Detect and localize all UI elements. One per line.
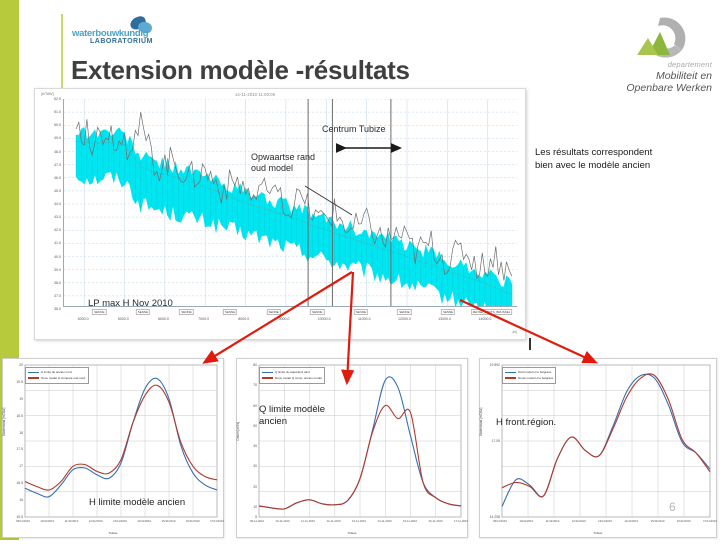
page-title: Extension modèle -résultats — [71, 55, 410, 86]
main-chart-plot-area — [63, 99, 517, 307]
sub-x-tick-label: 11/11/2010 — [546, 519, 560, 523]
sub-chart-h-limite: Waterstand [mTAW] 2019.51918.51817.51716… — [2, 358, 224, 538]
y-tick-label: 40.0 — [54, 255, 61, 259]
y-tick-label: 41.0 — [54, 241, 61, 245]
y-tick-label: 51.0 — [54, 110, 61, 114]
sub-x-tick-label: 16/11/2010 — [677, 519, 691, 523]
legend-label: Q limite du aquarterd rand — [275, 370, 310, 375]
sub-chart-q-limite-y-labels: 80706050403020105 — [239, 365, 257, 517]
y-tick-label: 43.0 — [54, 215, 61, 219]
main-chart-y-axis-labels: 52.051.050.049.048.047.046.045.044.043.0… — [39, 99, 61, 307]
sub-chart-h-front-legend: Oud model H te belgrave Nouw model H te … — [502, 367, 556, 384]
sub-y-tick-label: 80 — [253, 363, 257, 367]
sub-chart-q-limite-label-line2: ancien — [259, 416, 325, 428]
sub-x-tick-label: 12-11-2010 — [326, 519, 340, 523]
slide-canvas: waterbouwkundig LABORATORIUM Extension m… — [0, 0, 720, 540]
x-tick-label: 7000.0 — [198, 317, 209, 321]
mow-logo: departement Mobiliteit en Openbare Werke… — [596, 14, 712, 92]
y-tick-label: 37.0 — [54, 294, 61, 298]
sub-chart-h-limite-label: H limite modèle ancien — [89, 497, 185, 509]
sub-y-tick-label: 30 — [253, 464, 257, 468]
mow-emblem-icon — [596, 14, 712, 62]
sub-x-tick-label: 16-11-2010 — [428, 519, 442, 523]
x-tick-label: 10000.0 — [318, 317, 331, 321]
sub-y-tick-label: 16 — [19, 498, 23, 502]
station-label: SENNE — [179, 309, 193, 315]
sub-x-tick-label: 10/11/2010 — [519, 519, 533, 523]
main-chart-x-unit: [m] — [513, 330, 517, 334]
x-tick-label: 14000.0 — [478, 317, 491, 321]
sub-y-tick-label: 17 — [19, 464, 23, 468]
sub-chart-h-front-region: Waterstand [mTAW] 19.89217.0514.208 Oud … — [479, 358, 717, 538]
x-tick-label: 4000.0 — [78, 317, 89, 321]
legend-label: H limite du ancien mod. — [41, 370, 72, 375]
y-tick-label: 38.0 — [54, 281, 61, 285]
x-tick-label: 5000.0 — [118, 317, 129, 321]
sub-chart-q-limite-label: Q limite modèle ancien — [259, 404, 325, 427]
annotation-lp-max: LP max H Nov 2010 — [88, 298, 173, 309]
sub-x-tick-label: 12/11/2010 — [89, 519, 103, 523]
sub-chart-h-limite-y-labels: 2019.51918.51817.51716.51615.5 — [5, 365, 23, 517]
sub-x-tick-label: 13-11-2010 — [352, 519, 366, 523]
sub-x-tick-label: 11-11-2010 — [301, 519, 315, 523]
main-chart-timestamp: 14-11-2010 11:00:00 — [235, 92, 275, 97]
y-tick-label: 52.0 — [54, 97, 61, 101]
station-label: SENNE — [92, 309, 106, 315]
y-tick-label: 49.0 — [54, 136, 61, 140]
legend-swatch-blue — [505, 372, 516, 373]
results-note-line1: Les résultats correspondent — [535, 147, 715, 160]
sub-y-tick-label: 19 — [19, 397, 23, 401]
x-tick-label: 8000.0 — [238, 317, 249, 321]
sub-y-tick-label: 17.05 — [492, 439, 501, 443]
sub-chart-h-front-y-labels: 19.89217.0514.208 — [482, 365, 500, 517]
legend-row: Oud model H te belgrave — [505, 370, 553, 375]
sub-x-tick-label: 09/11/2010 — [16, 519, 30, 523]
sub-y-tick-label: 20 — [253, 485, 257, 489]
legend-row: Q limite du aquarterd rand — [262, 370, 322, 375]
y-tick-label: 45.0 — [54, 189, 61, 193]
annotation-opwaartse-rand: Opwaartse rand oud model — [251, 152, 315, 174]
station-label: SENNE — [266, 309, 280, 315]
x-tick-label: 6000.0 — [158, 317, 169, 321]
sub-y-tick-label: 20 — [19, 363, 23, 367]
y-tick-label: 47.0 — [54, 163, 61, 167]
legend-row: Nouw model H te belgrave — [505, 376, 553, 381]
sub-x-tick-label: 09/11/2010 — [493, 519, 507, 523]
chart-edge-tick-mark — [529, 338, 531, 350]
sub-chart-q-limite-x-title: Tidsas — [237, 531, 467, 535]
legend-row: Nouv model H comparé oud mod. — [28, 376, 86, 381]
page-number: 6 — [669, 500, 676, 514]
sub-x-tick-label: 17/11/2010 — [703, 519, 717, 523]
laboratorium-subtext: LABORATORIUM — [90, 38, 153, 45]
y-tick-label: 42.0 — [54, 228, 61, 232]
title-divider-rule — [61, 14, 63, 88]
sub-x-tick-label: 16/11/2010 — [186, 519, 200, 523]
sub-y-tick-label: 19.5 — [16, 380, 23, 384]
legend-label: Nouv model Q comp. ancien model — [275, 376, 322, 381]
sub-y-tick-label: 18 — [19, 431, 23, 435]
mow-line2: Openbare Werken — [596, 82, 712, 94]
mow-line1: Mobiliteit en — [596, 70, 712, 82]
y-tick-label: 39.0 — [54, 268, 61, 272]
station-label: SENNE — [136, 309, 150, 315]
sub-y-tick-label: 18.5 — [16, 414, 23, 418]
sub-chart-h-front-label: H front.région. — [496, 417, 556, 429]
mow-text-block: departement Mobiliteit en Openbare Werke… — [596, 60, 712, 94]
sub-y-tick-label: 40 — [253, 444, 257, 448]
sub-x-tick-label: 13/11/2010 — [113, 519, 127, 523]
sub-y-tick-label: 17.5 — [16, 447, 23, 451]
x-tick-label: 13000.0 — [438, 317, 451, 321]
x-tick-label: 11000.0 — [358, 317, 371, 321]
sub-x-tick-label: 17-11-2010 — [454, 519, 468, 523]
sub-x-tick-label: 14-11-2010 — [377, 519, 391, 523]
sub-x-tick-label: 15/11/2010 — [162, 519, 176, 523]
annotation-opwaartse-line2: oud model — [251, 163, 315, 174]
sub-x-tick-label: 09-11-2010 — [250, 519, 264, 523]
y-tick-label: 48.0 — [54, 150, 61, 154]
legend-label: Nouw model H te belgrave — [518, 376, 553, 381]
mow-departement-label: departement — [596, 60, 712, 69]
sub-x-tick-label: 13/11/2010 — [598, 519, 612, 523]
legend-row: H limite du ancien mod. — [28, 370, 86, 375]
legend-swatch-blue — [28, 372, 39, 373]
y-tick-label: 44.0 — [54, 202, 61, 206]
sub-y-tick-label: 70 — [253, 383, 257, 387]
sub-chart-h-limite-svg — [3, 359, 225, 539]
station-label: SENNE — [397, 309, 411, 315]
y-tick-label: 50.0 — [54, 123, 61, 127]
station-label: SENNE — [223, 309, 237, 315]
legend-swatch-red — [28, 377, 39, 378]
sub-chart-q-limite-svg — [237, 359, 469, 539]
sub-y-tick-label: 60 — [253, 404, 257, 408]
y-tick-label: 46.0 — [54, 176, 61, 180]
legend-swatch-red — [262, 377, 273, 378]
sub-chart-q-limite-label-line1: Q limite modèle — [259, 404, 325, 416]
station-label: SENNE — [354, 309, 368, 315]
sub-x-tick-label: 11/11/2010 — [65, 519, 79, 523]
main-chart-y-unit: [mTAW] — [41, 92, 54, 96]
main-chart-svg — [64, 99, 517, 307]
sub-y-tick-label: 50 — [253, 424, 257, 428]
results-note-line2: bien avec le modèle ancien — [535, 160, 715, 173]
sub-chart-h-front-x-title: Tidsas — [480, 531, 716, 535]
main-chart-station-labels: SENNESENNESENNESENNESENNESENNESENNESENNE… — [63, 309, 517, 317]
main-chart-x-axis-labels: 4000.05000.06000.07000.08000.09000.01000… — [63, 317, 517, 327]
sub-x-tick-label: 10-11-2010 — [275, 519, 289, 523]
station-label: ZENNE_OPVTS_BRUSSEL — [471, 309, 513, 315]
legend-label: Nouv model H comparé oud mod. — [41, 376, 86, 381]
station-label: SENNE — [310, 309, 324, 315]
sub-x-tick-label: 15/11/2010 — [651, 519, 665, 523]
sub-y-tick-label: 16.5 — [16, 481, 23, 485]
legend-swatch-blue — [262, 372, 273, 373]
legend-swatch-red — [505, 377, 516, 378]
sub-chart-h-front-x-labels: 09/11/201010/11/201011/11/201012/11/2010… — [500, 519, 710, 527]
sub-x-tick-label: 15-11-2010 — [403, 519, 417, 523]
legend-row: Nouv model Q comp. ancien model — [262, 376, 322, 381]
sub-x-tick-label: 14/11/2010 — [624, 519, 638, 523]
annotation-centrum-text: Centrum Tubize — [322, 124, 386, 134]
x-tick-label: 9000.0 — [278, 317, 289, 321]
sub-x-tick-label: 12/11/2010 — [572, 519, 586, 523]
waterbouwkundig-logo: waterbouwkundig LABORATORIUM — [72, 16, 168, 50]
x-tick-label: 12000.0 — [398, 317, 411, 321]
sub-x-tick-label: 17/11/2010 — [210, 519, 224, 523]
sub-chart-h-limite-x-labels: 09/11/201010/11/201011/11/201012/11/2010… — [23, 519, 217, 527]
sub-chart-q-limite-legend: Q limite du aquarterd rand Nouv model Q … — [259, 367, 325, 384]
sub-y-tick-label: 10 — [253, 505, 257, 509]
sub-chart-h-limite-x-title: Tidsas — [3, 531, 223, 535]
sub-y-tick-label: 19.892 — [490, 363, 500, 367]
station-label: SENNE — [441, 309, 455, 315]
sub-chart-h-front-svg — [480, 359, 718, 539]
annotation-centrum-tubize: Centrum Tubize — [322, 124, 386, 135]
legend-label: Oud model H te belgrave — [518, 370, 551, 375]
sub-x-tick-label: 10/11/2010 — [40, 519, 54, 523]
sub-chart-h-limite-legend: H limite du ancien mod. Nouv model H com… — [25, 367, 89, 384]
y-tick-label: 36.0 — [54, 307, 61, 311]
results-note: Les résultats correspondent bien avec le… — [535, 147, 715, 172]
sub-chart-q-limite-x-labels: 09-11-201010-11-201011-11-201012-11-2010… — [257, 519, 461, 527]
sub-x-tick-label: 14/11/2010 — [137, 519, 151, 523]
annotation-opwaartse-line1: Opwaartse rand — [251, 152, 315, 163]
sub-chart-q-limite: Debiet [m3/s] 80706050403020105 Q limite… — [236, 358, 468, 538]
